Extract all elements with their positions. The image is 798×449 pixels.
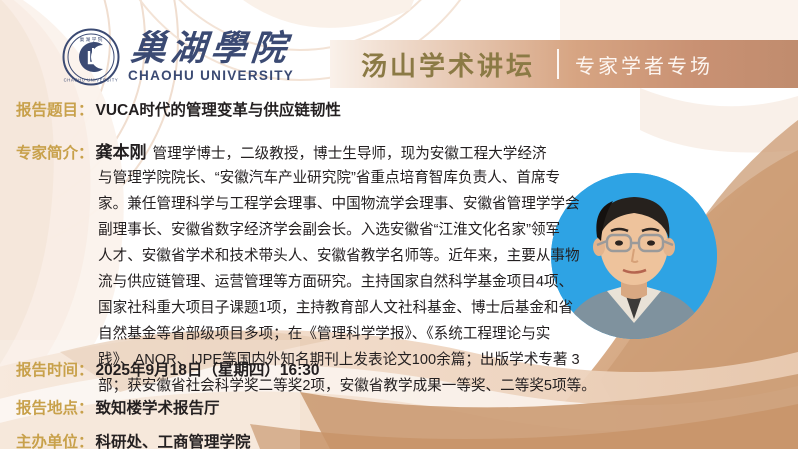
report-time-label: 报告时间： [16, 358, 94, 380]
banner-divider [557, 49, 559, 79]
university-name-group: 巢湖學院 CHAOHU UNIVERSITY [128, 31, 294, 83]
svg-text:巢 湖 学 院: 巢 湖 学 院 [80, 36, 103, 43]
bio-line: 自然基金等省部级项目多项；在《管理科学学报》、《系统工程理论与实 [98, 321, 716, 347]
bio-line: 国家社科重大项目子课题1项，主持教育部人文社科基金、博士后基金和省 [98, 295, 716, 321]
banner-series-title: 汤山学术讲坛 [361, 46, 535, 83]
university-logo-block: 巢 湖 学 院 CHAOHU UNIVERSITY 巢湖學院 CHAOHU UN… [62, 28, 294, 86]
bio-line: 家。兼任管理科学与工程学会理事、中国物流学会理事、安徽省管理学学会 [98, 191, 716, 217]
seminar-poster: 巢 湖 学 院 CHAOHU UNIVERSITY 巢湖學院 CHAOHU UN… [0, 0, 798, 449]
bio-line: 与管理学院院长、“安徽汽车产业研究院”省重点培育智库负责人、首席专 [98, 165, 716, 191]
report-host-row: 主办单位： 科研处、工商管理学院 [16, 430, 251, 449]
lecture-series-banner: 汤山学术讲坛 专家学者专场 [330, 40, 798, 88]
university-name-cn: 巢湖學院 [130, 31, 293, 66]
bio-line: 管理学博士，二级教授，博士生导师，现为安徽工程大学经济 [153, 143, 547, 165]
report-time-row: 报告时间： 2025年9月18日（星期四）16:30 [16, 358, 320, 380]
report-host-label: 主办单位： [16, 430, 94, 449]
speaker-bio-first-line: 专家简介： 龚本刚 管理学博士，二级教授，博士生导师，现为安徽工程大学经济 [16, 138, 716, 165]
report-title-label: 报告题目： [16, 98, 94, 120]
report-place-value: 致知楼学术报告厅 [96, 396, 220, 418]
report-place-label: 报告地点： [16, 396, 94, 418]
speaker-name: 龚本刚 [96, 138, 147, 163]
chaohu-university-seal-icon: 巢 湖 学 院 CHAOHU UNIVERSITY [62, 28, 120, 86]
bio-line: 流与供应链管理、运营管理等方面研究。主持国家自然科学基金项目4项、 [98, 269, 716, 295]
report-time-value: 2025年9月18日（星期四）16:30 [96, 358, 320, 380]
bio-line: 人才、安徽省学术和技术带头人、安徽省教学名师等。近年来，主要从事物 [98, 243, 716, 269]
speaker-bio-label: 专家简介： [16, 141, 94, 163]
report-title-row: 报告题目： VUCA时代的管理变革与供应链韧性 [16, 98, 341, 120]
banner-series-subtitle: 专家学者专场 [575, 50, 713, 79]
report-place-row: 报告地点： 致知楼学术报告厅 [16, 396, 220, 418]
bio-line: 副理事长、安徽省数字经济学会副会长。入选安徽省“江淮文化名家”领军 [98, 217, 716, 243]
report-title-value: VUCA时代的管理变革与供应链韧性 [96, 98, 341, 120]
university-name-en: CHAOHU UNIVERSITY [128, 69, 294, 83]
report-host-value: 科研处、工商管理学院 [96, 430, 251, 449]
svg-text:CHAOHU UNIVERSITY: CHAOHU UNIVERSITY [64, 78, 119, 83]
